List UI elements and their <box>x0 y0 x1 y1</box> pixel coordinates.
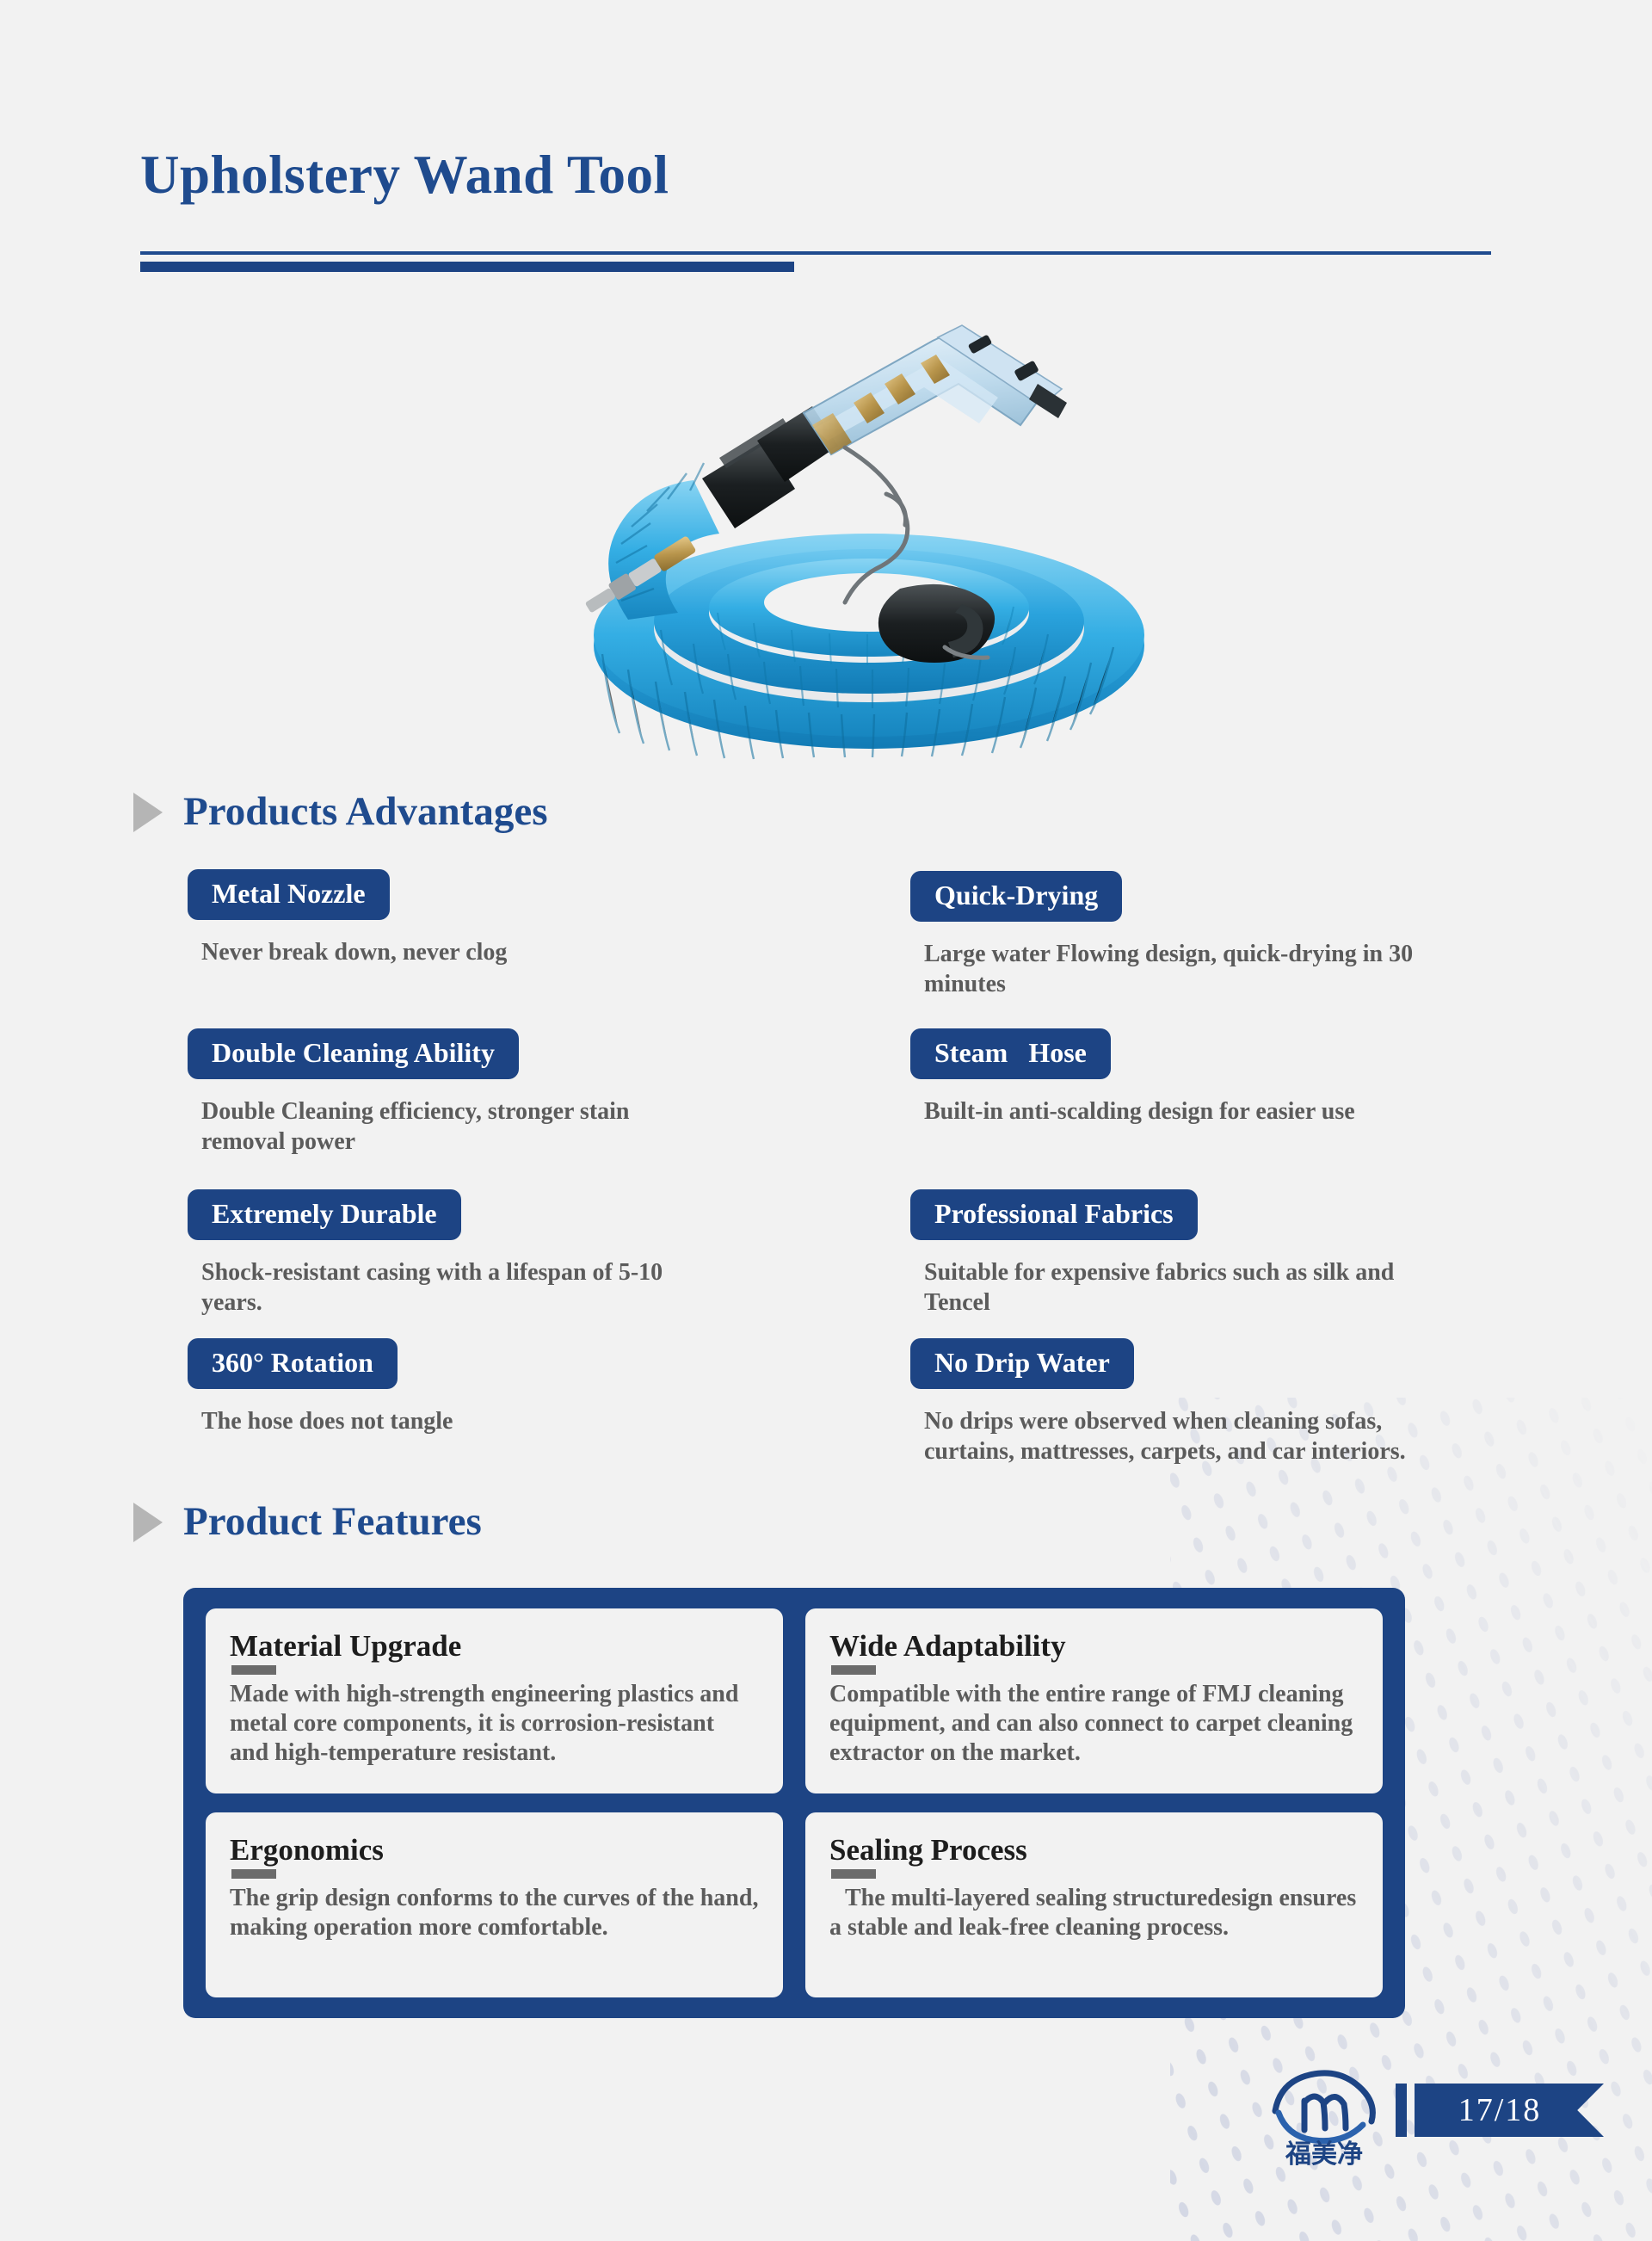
feature-divider-dash <box>231 1665 276 1675</box>
header-rule-thick <box>140 262 794 272</box>
feature-card-text: Compatible with the entire range of FMJ … <box>829 1680 1359 1768</box>
advantage-badge: Professional Fabrics <box>910 1189 1198 1240</box>
feature-card: Ergonomics The grip design conforms to t… <box>206 1812 783 1997</box>
page-title: Upholstery Wand Tool <box>140 146 1491 203</box>
advantage-badge: 360° Rotation <box>188 1338 398 1389</box>
product-features-panel: Material Upgrade Made with high-strength… <box>183 1588 1405 2018</box>
feature-divider-dash <box>831 1665 876 1675</box>
feature-card-text: Made with high-strength engineering plas… <box>230 1680 759 1768</box>
feature-card: Wide Adaptability Compatible with the en… <box>805 1608 1383 1793</box>
advantage-item: Professional Fabrics Suitable for expens… <box>910 1189 1461 1318</box>
advantage-description: The hose does not tangle <box>188 1406 704 1437</box>
section-heading-advantages: Products Advantages <box>133 792 547 832</box>
feature-card-text: The multi-layered sealing structuredesig… <box>829 1884 1359 1942</box>
feature-divider-dash <box>831 1869 876 1879</box>
ribbon-body: 17/18 <box>1415 2084 1604 2137</box>
triangle-bullet-icon <box>133 793 163 832</box>
header-rule-thin <box>140 251 1491 255</box>
feature-card: Material Upgrade Made with high-strength… <box>206 1608 783 1793</box>
product-photo <box>456 310 1248 775</box>
advantage-item: 360° Rotation The hose does not tangle <box>188 1338 738 1436</box>
feature-card-text: The grip design conforms to the curves o… <box>230 1884 759 1942</box>
advantage-badge: Metal Nozzle <box>188 869 390 920</box>
advantage-item: Double Cleaning Ability Double Cleaning … <box>188 1028 738 1158</box>
advantage-description: Double Cleaning efficiency, stronger sta… <box>188 1096 704 1158</box>
feature-card-title: Wide Adaptability <box>829 1631 1359 1663</box>
brand-logo: 福美净 <box>1260 2061 1389 2173</box>
advantage-badge: No Drip Water <box>910 1338 1134 1389</box>
advantage-badge: Double Cleaning Ability <box>188 1028 519 1079</box>
advantage-badge: Quick-Drying <box>910 871 1122 922</box>
page-footer: 福美净 17/18 <box>1239 2053 1618 2182</box>
feature-card-title: Material Upgrade <box>230 1631 759 1663</box>
advantage-description: Never break down, never clog <box>188 937 704 968</box>
advantage-badge: Extremely Durable <box>188 1189 461 1240</box>
brochure-page: Upholstery Wand Tool <box>0 0 1652 2241</box>
advantage-description: Built-in anti-scalding design for easier… <box>910 1096 1427 1127</box>
advantage-description: Suitable for expensive fabrics such as s… <box>910 1257 1427 1319</box>
feature-divider-dash <box>231 1869 276 1879</box>
feature-card: Sealing Process The multi-layered sealin… <box>805 1812 1383 1997</box>
features-heading-label: Product Features <box>183 1502 482 1542</box>
advantages-heading-label: Products Advantages <box>183 792 547 832</box>
page-header: Upholstery Wand Tool <box>140 146 1491 203</box>
brand-name-cn: 福美净 <box>1285 2139 1363 2170</box>
advantage-description: No drips were observed when cleaning sof… <box>910 1406 1427 1468</box>
triangle-bullet-icon <box>133 1503 163 1542</box>
advantage-description: Large water Flowing design, quick-drying… <box>910 939 1427 1001</box>
advantage-item: Metal Nozzle Never break down, never clo… <box>188 869 738 967</box>
page-number-ribbon: 17/18 <box>1396 2084 1604 2137</box>
advantage-item: No Drip Water No drips were observed whe… <box>910 1338 1461 1467</box>
advantage-badge: Steam Hose <box>910 1028 1111 1079</box>
section-heading-features: Product Features <box>133 1502 482 1542</box>
advantage-description: Shock-resistant casing with a lifespan o… <box>188 1257 704 1319</box>
ribbon-tick <box>1396 2084 1407 2137</box>
advantage-item: Quick-Drying Large water Flowing design,… <box>910 871 1461 1000</box>
page-number: 17/18 <box>1458 2094 1542 2127</box>
feature-card-title: Ergonomics <box>230 1835 759 1867</box>
advantage-item: Extremely Durable Shock-resistant casing… <box>188 1189 738 1318</box>
advantage-item: Steam Hose Built-in anti-scalding design… <box>910 1028 1461 1127</box>
feature-card-title: Sealing Process <box>829 1835 1359 1867</box>
